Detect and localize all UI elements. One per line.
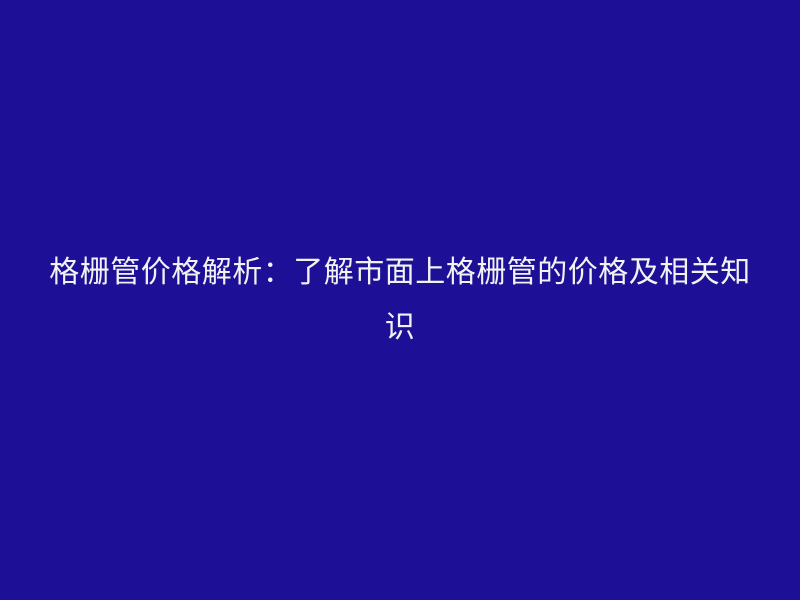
- title-block: 格栅管价格解析：了解市面上格栅管的价格及相关知识: [0, 245, 800, 355]
- page-title: 格栅管价格解析：了解市面上格栅管的价格及相关知识: [48, 245, 752, 355]
- title-card: 格栅管价格解析：了解市面上格栅管的价格及相关知识: [0, 0, 800, 600]
